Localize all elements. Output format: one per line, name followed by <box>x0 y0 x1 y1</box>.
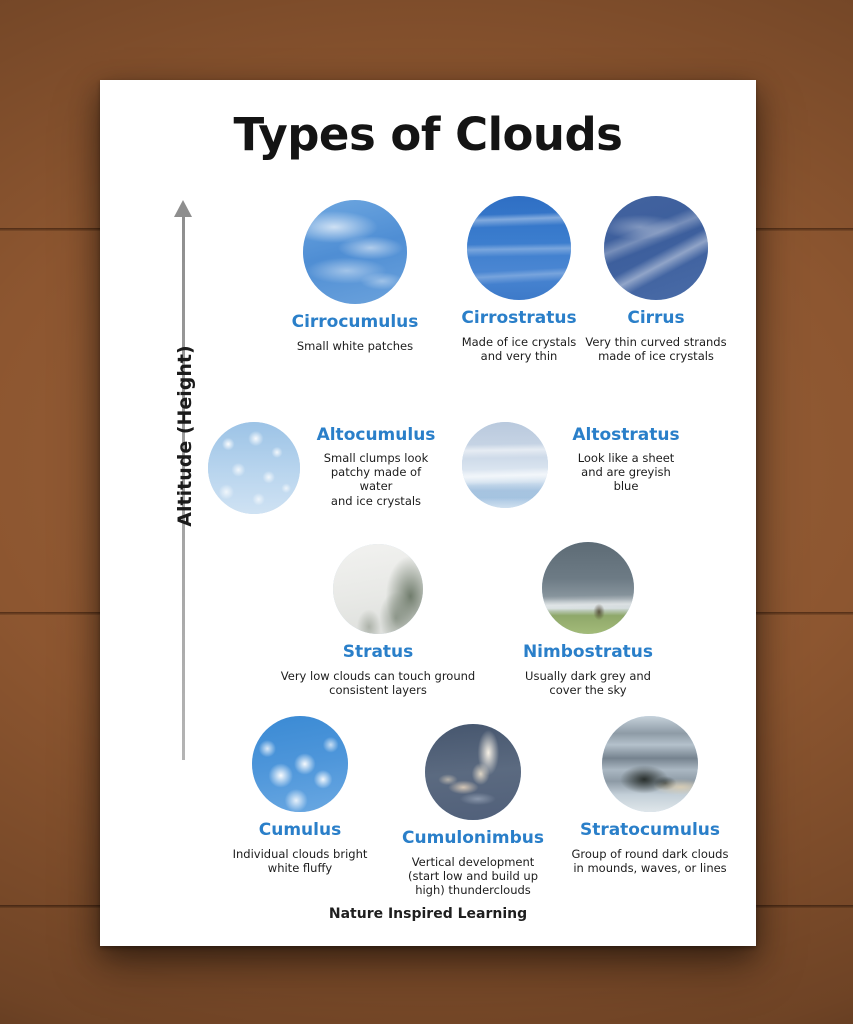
cloud-name: Cumulus <box>210 821 390 840</box>
poster-footer: Nature Inspired Learning <box>100 906 756 922</box>
cloud-description: Very thin curved strands made of ice cry… <box>558 335 754 364</box>
cloud-name: Stratocumulus <box>545 821 755 840</box>
altostratus-photo <box>462 422 548 508</box>
cloud-description: Individual clouds bright white fluffy <box>210 847 390 876</box>
cloud-name: Altostratus <box>562 426 690 445</box>
cloud-entry-altocumulus[interactable]: Altocumulus Small clumps look patchy mad… <box>208 422 438 514</box>
cloud-description: Look like a sheet and are greyish blue <box>562 451 690 494</box>
cloud-name: Altocumulus <box>314 426 438 445</box>
cloud-entry-altostratus[interactable]: Altostratus Look like a sheet and are gr… <box>462 422 702 508</box>
cloud-description: Small clumps look patchy made of water a… <box>314 451 438 509</box>
cloud-entry-cumulonimbus[interactable]: Cumulonimbus Vertical development (start… <box>383 724 563 898</box>
cloud-description: Usually dark grey and cover the sky <box>498 669 678 698</box>
nimbostratus-photo <box>542 542 634 634</box>
cloud-name: Cumulonimbus <box>383 829 563 848</box>
cirrus-photo <box>604 196 708 300</box>
stratus-photo <box>333 544 423 634</box>
cloud-description: Very low clouds can touch ground consist… <box>263 669 493 698</box>
cirrostratus-photo <box>467 196 571 300</box>
altitude-axis: Altitude (Height) <box>152 200 198 760</box>
cloud-entry-cumulus[interactable]: Cumulus Individual clouds bright white f… <box>210 716 390 875</box>
cloud-description: Group of round dark clouds in mounds, wa… <box>545 847 755 876</box>
cloud-entry-stratocumulus[interactable]: Stratocumulus Group of round dark clouds… <box>545 716 755 875</box>
cloud-entry-nimbostratus[interactable]: Nimbostratus Usually dark grey and cover… <box>498 542 678 697</box>
cloud-entry-stratus[interactable]: Stratus Very low clouds can touch ground… <box>263 544 493 697</box>
cloud-name: Stratus <box>263 643 493 662</box>
cloud-entry-cirrocumulus[interactable]: Cirrocumulus Small white patches <box>280 200 430 353</box>
cloud-name: Cirrus <box>558 309 754 328</box>
altocumulus-photo <box>208 422 300 514</box>
stratocumulus-photo <box>602 716 698 812</box>
cloud-description: Vertical development (start low and buil… <box>383 855 563 898</box>
cloud-name: Nimbostratus <box>498 643 678 662</box>
page-title: Types of Clouds <box>100 108 756 161</box>
axis-label: Altitude (Height) <box>174 286 196 586</box>
cloud-types-poster: Types of Clouds Altitude (Height) Cirroc… <box>100 80 756 946</box>
cloud-name: Cirrocumulus <box>280 313 430 332</box>
cloud-entry-cirrus[interactable]: Cirrus Very thin curved strands made of … <box>558 196 754 363</box>
cumulonimbus-photo <box>425 724 521 820</box>
cloud-description: Small white patches <box>280 339 430 353</box>
cirrocumulus-photo <box>303 200 407 304</box>
cumulus-photo <box>252 716 348 812</box>
